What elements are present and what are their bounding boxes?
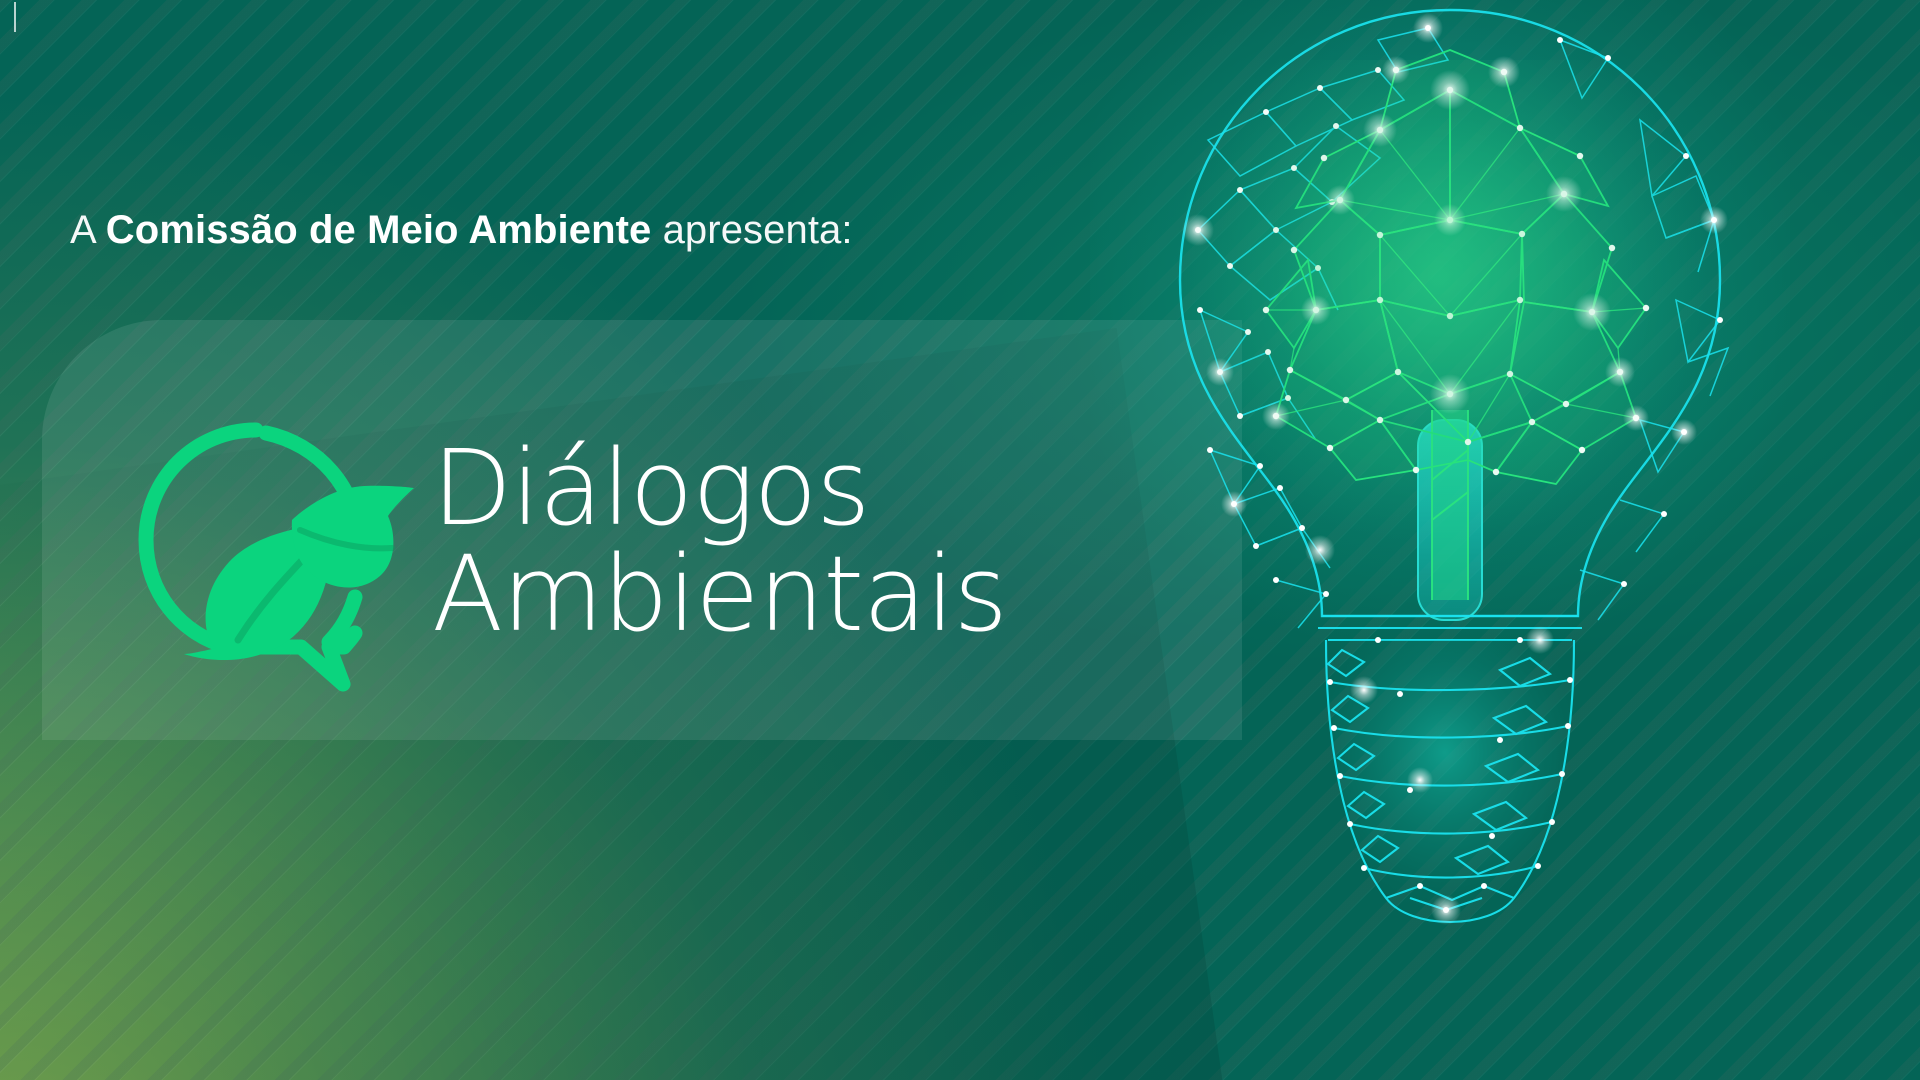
- headline-suffix: apresenta:: [651, 208, 852, 252]
- headline-emphasis: Comissão de Meio Ambiente: [106, 208, 652, 252]
- corner-tick-mark: [14, 2, 16, 32]
- page-title: A Comissão de Meio Ambiente apresenta:: [70, 208, 853, 252]
- speech-bubble-leaf-logo: [96, 392, 416, 692]
- slide-canvas: A Comissão de Meio Ambiente apresenta: D…: [0, 0, 1920, 1080]
- brand-wordmark: Diálogos Ambientais: [432, 440, 1007, 644]
- headline-prefix: A: [70, 208, 106, 252]
- wordmark-line-1: Diálogos: [432, 440, 1007, 538]
- wordmark-line-2: Ambientais: [432, 546, 1007, 644]
- logo-lockup: Diálogos Ambientais: [96, 392, 1156, 692]
